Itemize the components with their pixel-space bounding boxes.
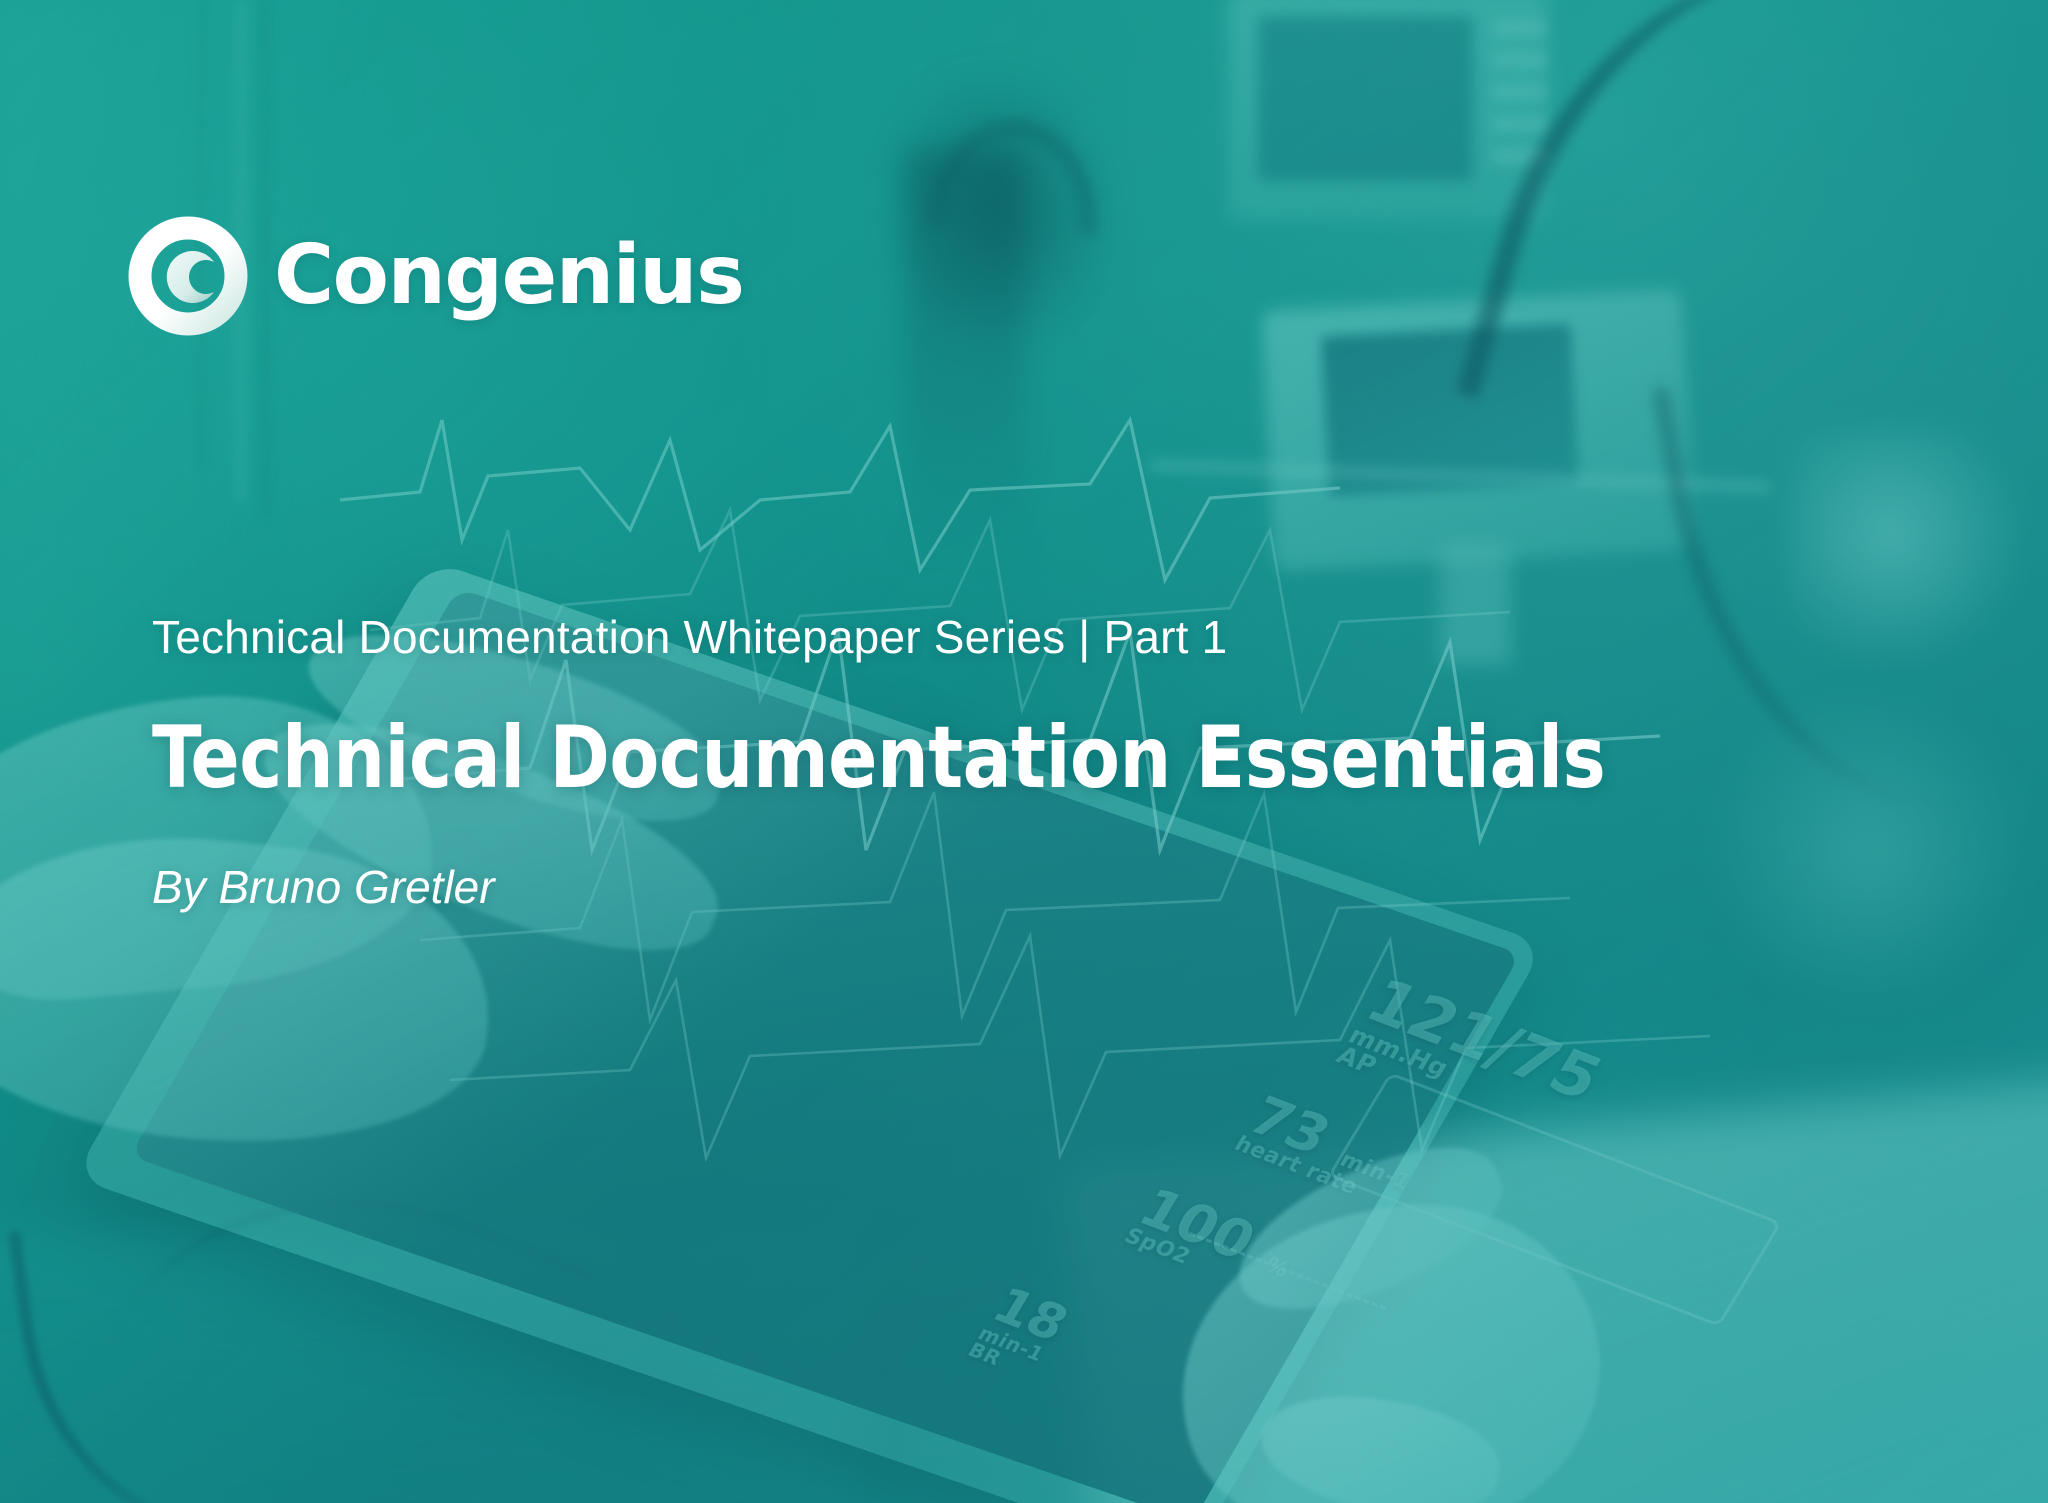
series-kicker: Technical Documentation Whitepaper Serie… — [152, 610, 1227, 664]
congenius-c-swirl-logo-icon — [128, 216, 248, 336]
whitepaper-cover-page: 121/75 mm.Hg AP 73 min-1 heart rate 100 … — [0, 0, 2048, 1503]
author-byline: By Bruno Gretler — [152, 860, 495, 914]
brand-logo[interactable]: Congenius — [128, 216, 743, 336]
cover-content: Congenius Technical Documentation Whitep… — [0, 0, 2048, 1503]
brand-name: Congenius — [274, 235, 743, 317]
page-title: Technical Documentation Essentials — [152, 708, 1605, 808]
